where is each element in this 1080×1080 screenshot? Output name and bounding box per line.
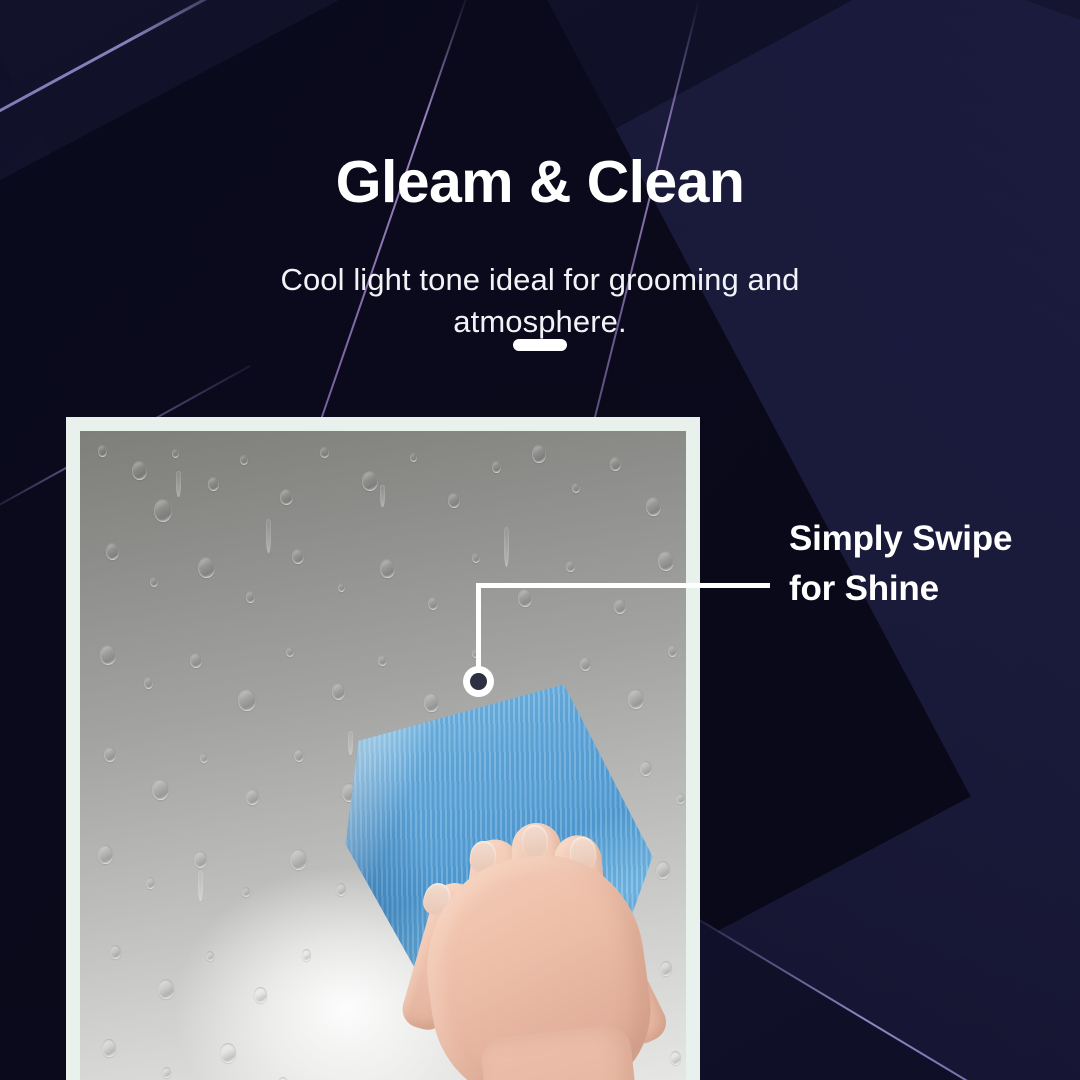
- nail-middle: [522, 825, 548, 857]
- page-subtitle: Cool light tone ideal for grooming and a…: [190, 259, 890, 343]
- product-photo: [80, 431, 686, 1080]
- title-divider-dash: [513, 339, 567, 351]
- callout-leader-vertical: [476, 583, 481, 675]
- callout-leader-horizontal: [478, 583, 770, 588]
- poster-canvas: Gleam & Clean Cool light tone ideal for …: [0, 0, 1080, 1080]
- callout-label: Simply Swipe for Shine: [789, 514, 1039, 614]
- page-title: Gleam & Clean: [0, 152, 1080, 214]
- hand-graphic: [380, 731, 686, 1080]
- callout-dot-marker: [463, 666, 494, 697]
- product-photo-frame: [66, 417, 700, 1080]
- callout-dot-core: [470, 673, 487, 690]
